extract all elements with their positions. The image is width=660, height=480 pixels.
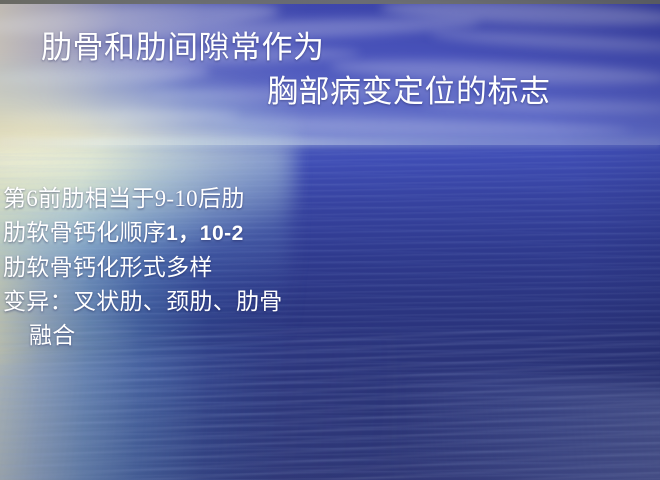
slide-body: 第6前肋相当于9-10后肋 肋软骨钙化顺序1，10-2 肋软骨钙化形式多样 变异… [3, 182, 503, 353]
body-line-2-numbers: 1，10-2 [166, 222, 244, 245]
slide-title: 肋骨和肋间隙常作为 胸部病变定位的标志 [0, 26, 640, 114]
slide-text-layer: 肋骨和肋间隙常作为 胸部病变定位的标志 第6前肋相当于9-10后肋 肋软骨钙化顺… [0, 0, 660, 480]
body-line-3: 肋软骨钙化形式多样 [3, 251, 503, 285]
title-line-1: 肋骨和肋间隙常作为 [0, 26, 640, 70]
title-line-2: 胸部病变定位的标志 [0, 70, 640, 114]
body-line-5: 融合 [3, 319, 503, 353]
body-line-2-text: 肋软骨钙化顺序 [3, 220, 166, 245]
presentation-slide: 肋骨和肋间隙常作为 胸部病变定位的标志 第6前肋相当于9-10后肋 肋软骨钙化顺… [0, 0, 660, 480]
body-line-1: 第6前肋相当于9-10后肋 [3, 182, 503, 216]
body-line-4: 变异：叉状肋、颈肋、肋骨 [3, 285, 503, 319]
top-edge-strip [0, 0, 660, 4]
body-line-2: 肋软骨钙化顺序1，10-2 [3, 216, 503, 251]
